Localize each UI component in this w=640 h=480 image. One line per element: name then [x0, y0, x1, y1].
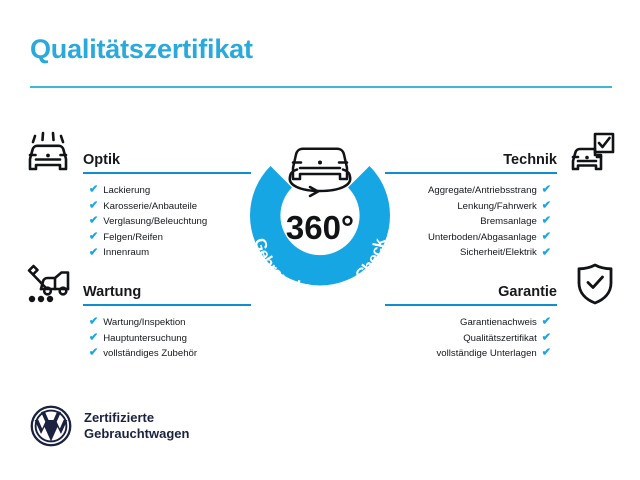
check-icon: ✔ — [542, 332, 551, 343]
section-wartung-header: Wartung — [83, 272, 251, 306]
list-item: ✔Verglasung/Beleuchtung — [89, 214, 251, 230]
list-item-label: Verglasung/Beleuchtung — [103, 214, 207, 230]
list-item-label: Qualitätszertifikat — [463, 331, 537, 347]
list-item-label: Felgen/Reifen — [103, 230, 163, 246]
list-item-label: Lackierung — [103, 183, 150, 199]
car-wrench-icon — [24, 263, 72, 310]
list-item-label: Sicherheit/Elektrik — [460, 245, 537, 261]
footer-line-2: Gebrauchtwagen — [84, 426, 189, 442]
check-icon: ✔ — [542, 247, 551, 258]
list-item: ✔Hauptuntersuchung — [89, 331, 251, 347]
list-item-label: Unterboden/Abgasanlage — [428, 230, 537, 246]
section-technik-header: Technik — [385, 140, 557, 174]
check-icon: ✔ — [89, 216, 98, 227]
section-wartung-list: ✔Wartung/Inspektion ✔Hauptuntersuchung ✔… — [83, 315, 251, 362]
check-icon: ✔ — [89, 348, 98, 359]
section-technik-list: Aggregate/Antriebsstrang✔ Lenkung/Fahrwe… — [385, 183, 557, 261]
check-icon: ✔ — [542, 200, 551, 211]
check-icon: ✔ — [542, 348, 551, 359]
list-item-label: Aggregate/Antriebsstrang — [428, 183, 537, 199]
list-item-label: Karosserie/Anbauteile — [103, 199, 197, 215]
list-item: ✔Karosserie/Anbauteile — [89, 199, 251, 215]
list-item: Lenkung/Fahrwerk✔ — [385, 199, 551, 215]
footer-brand: Zertifizierte Gebrauchtwagen — [30, 405, 189, 447]
list-item: ✔Innenraum — [89, 245, 251, 261]
section-technik: Technik Aggregate/Antriebsstrang✔ Lenkun… — [385, 140, 557, 261]
vw-logo-icon — [30, 405, 72, 447]
list-item: Unterboden/Abgasanlage✔ — [385, 230, 551, 246]
section-garantie-list: Garantienachweis✔ Qualitätszertifikat✔ v… — [385, 315, 557, 362]
page-title: Qualitätszertifikat — [30, 34, 253, 65]
list-item-label: Lenkung/Fahrwerk — [457, 199, 536, 215]
list-item-label: vollständige Unterlagen — [437, 346, 537, 362]
list-item: ✔Wartung/Inspektion — [89, 315, 251, 331]
check-icon: ✔ — [542, 216, 551, 227]
section-garantie-divider — [385, 304, 557, 306]
section-technik-title: Technik — [503, 152, 557, 168]
list-item-label: Wartung/Inspektion — [103, 315, 185, 331]
check-icon: ✔ — [542, 317, 551, 328]
section-optik: Optik ✔Lackierung ✔Karosserie/Anbauteile… — [83, 140, 251, 261]
check-icon: ✔ — [542, 185, 551, 196]
check-icon: ✔ — [89, 232, 98, 243]
check-icon: ✔ — [89, 247, 98, 258]
car-shine-icon — [24, 131, 72, 182]
check-icon: ✔ — [89, 200, 98, 211]
list-item: Sicherheit/Elektrik✔ — [385, 245, 551, 261]
list-item: Aggregate/Antriebsstrang✔ — [385, 183, 551, 199]
list-item: ✔vollständiges Zubehör — [89, 346, 251, 362]
section-garantie-header: Garantie — [385, 272, 557, 306]
check-icon: ✔ — [89, 317, 98, 328]
list-item-label: Hauptuntersuchung — [103, 331, 187, 347]
badge-center-label: 360° — [286, 209, 354, 246]
certificate-page: Qualitätszertifikat — [0, 0, 640, 480]
list-item: Bremsanlage✔ — [385, 214, 551, 230]
list-item: vollständige Unterlagen✔ — [385, 346, 551, 362]
list-item: ✔Lackierung — [89, 183, 251, 199]
section-optik-list: ✔Lackierung ✔Karosserie/Anbauteile ✔Verg… — [83, 183, 251, 261]
list-item: Garantienachweis✔ — [385, 315, 551, 331]
section-optik-title: Optik — [83, 152, 120, 168]
header-divider — [30, 86, 612, 88]
section-garantie-title: Garantie — [498, 284, 557, 300]
car-checkbox-icon — [570, 131, 616, 182]
list-item: ✔Felgen/Reifen — [89, 230, 251, 246]
car-rotate-icon — [290, 149, 350, 196]
section-wartung-divider — [83, 304, 251, 306]
check-icon: ✔ — [89, 332, 98, 343]
shield-check-icon — [575, 262, 615, 311]
list-item-label: Bremsanlage — [480, 214, 537, 230]
list-item-label: vollständiges Zubehör — [103, 346, 197, 362]
list-item: Qualitätszertifikat✔ — [385, 331, 551, 347]
list-item-label: Garantienachweis — [460, 315, 537, 331]
check-icon: ✔ — [89, 185, 98, 196]
footer-line-1: Zertifizierte — [84, 410, 189, 426]
section-optik-header: Optik — [83, 140, 251, 174]
section-garantie: Garantie Garantienachweis✔ Qualitätszert… — [385, 272, 557, 362]
section-technik-divider — [385, 172, 557, 174]
section-optik-divider — [83, 172, 251, 174]
check-icon: ✔ — [542, 232, 551, 243]
footer-brand-text: Zertifizierte Gebrauchtwagen — [84, 410, 189, 442]
section-wartung: Wartung ✔Wartung/Inspektion ✔Hauptunters… — [83, 272, 251, 362]
list-item-label: Innenraum — [103, 245, 149, 261]
section-wartung-title: Wartung — [83, 284, 141, 300]
